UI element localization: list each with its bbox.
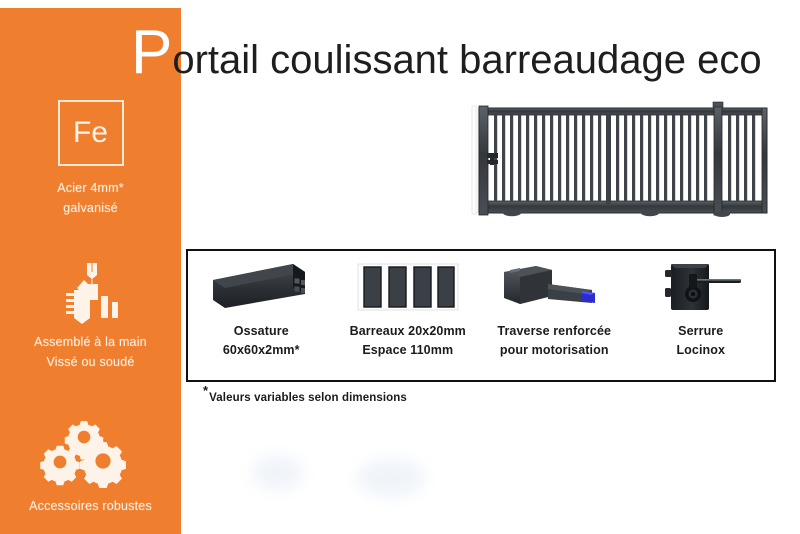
feature-ossature-line1: Ossature (234, 322, 289, 341)
bars-spacing-icon (356, 258, 460, 316)
sidebar-item-handmade-line1: Assemblé à la main (0, 332, 181, 352)
sidebar-item-handmade: Assemblé à la main Vissé ou soudé (0, 260, 181, 372)
sidebar-item-handmade-line2: Vissé ou soudé (0, 352, 181, 372)
background-artifact (252, 455, 304, 491)
sidebar-item-steel-line2: galvanisé (0, 198, 181, 218)
feature-serrure-line1: Serrure (678, 322, 723, 341)
page-title: P ortail coulissant barreaudage eco (131, 24, 762, 88)
feature-barreaux-line2: Espace 110mm (362, 341, 453, 360)
page-title-rest: ortail coulissant barreaudage eco (172, 31, 761, 89)
feature-item-ossature: Ossature 60x60x2mm* (188, 251, 335, 380)
feature-item-serrure: Serrure Locinox (628, 251, 775, 380)
wrench-screw-icon (0, 260, 181, 324)
sliding-gate-drawing (470, 98, 770, 228)
sidebar-item-accessories-line1: Accessoires robustes (0, 496, 181, 516)
reinforced-crossbar-icon (496, 258, 612, 316)
feature-ossature-line2: 60x60x2mm* (223, 341, 300, 360)
background-artifact (356, 458, 426, 498)
sidebar-item-steel: Fe Acier 4mm* galvanisé (0, 100, 181, 218)
fe-element-icon: Fe (58, 100, 124, 166)
gears-icon (0, 416, 181, 488)
feature-traverse-line1: Traverse renforcée (497, 322, 611, 341)
footnote: *Valeurs variables selon dimensions (203, 383, 407, 404)
sidebar-item-steel-line1: Acier 4mm* (0, 178, 181, 198)
feature-item-traverse: Traverse renforcée pour motorisation (481, 251, 628, 380)
sidebar-item-accessories: Accessoires robustes (0, 416, 181, 516)
feature-box: Ossature 60x60x2mm* Barreaux 20x20mm Esp… (186, 249, 776, 382)
frame-profile-icon (207, 258, 315, 316)
page-title-initial: P (131, 24, 172, 82)
lock-icon (655, 258, 747, 316)
feature-traverse-line2: pour motorisation (500, 341, 609, 360)
fe-symbol: Fe (73, 118, 108, 148)
feature-barreaux-line1: Barreaux 20x20mm (350, 322, 466, 341)
footnote-asterisk: * (203, 383, 208, 398)
product-sheet-page: Fe Acier 4mm* galvanisé (0, 0, 800, 534)
footnote-text: Valeurs variables selon dimensions (209, 392, 407, 404)
feature-item-barreaux: Barreaux 20x20mm Espace 110mm (335, 251, 482, 380)
feature-serrure-line2: Locinox (676, 341, 725, 360)
